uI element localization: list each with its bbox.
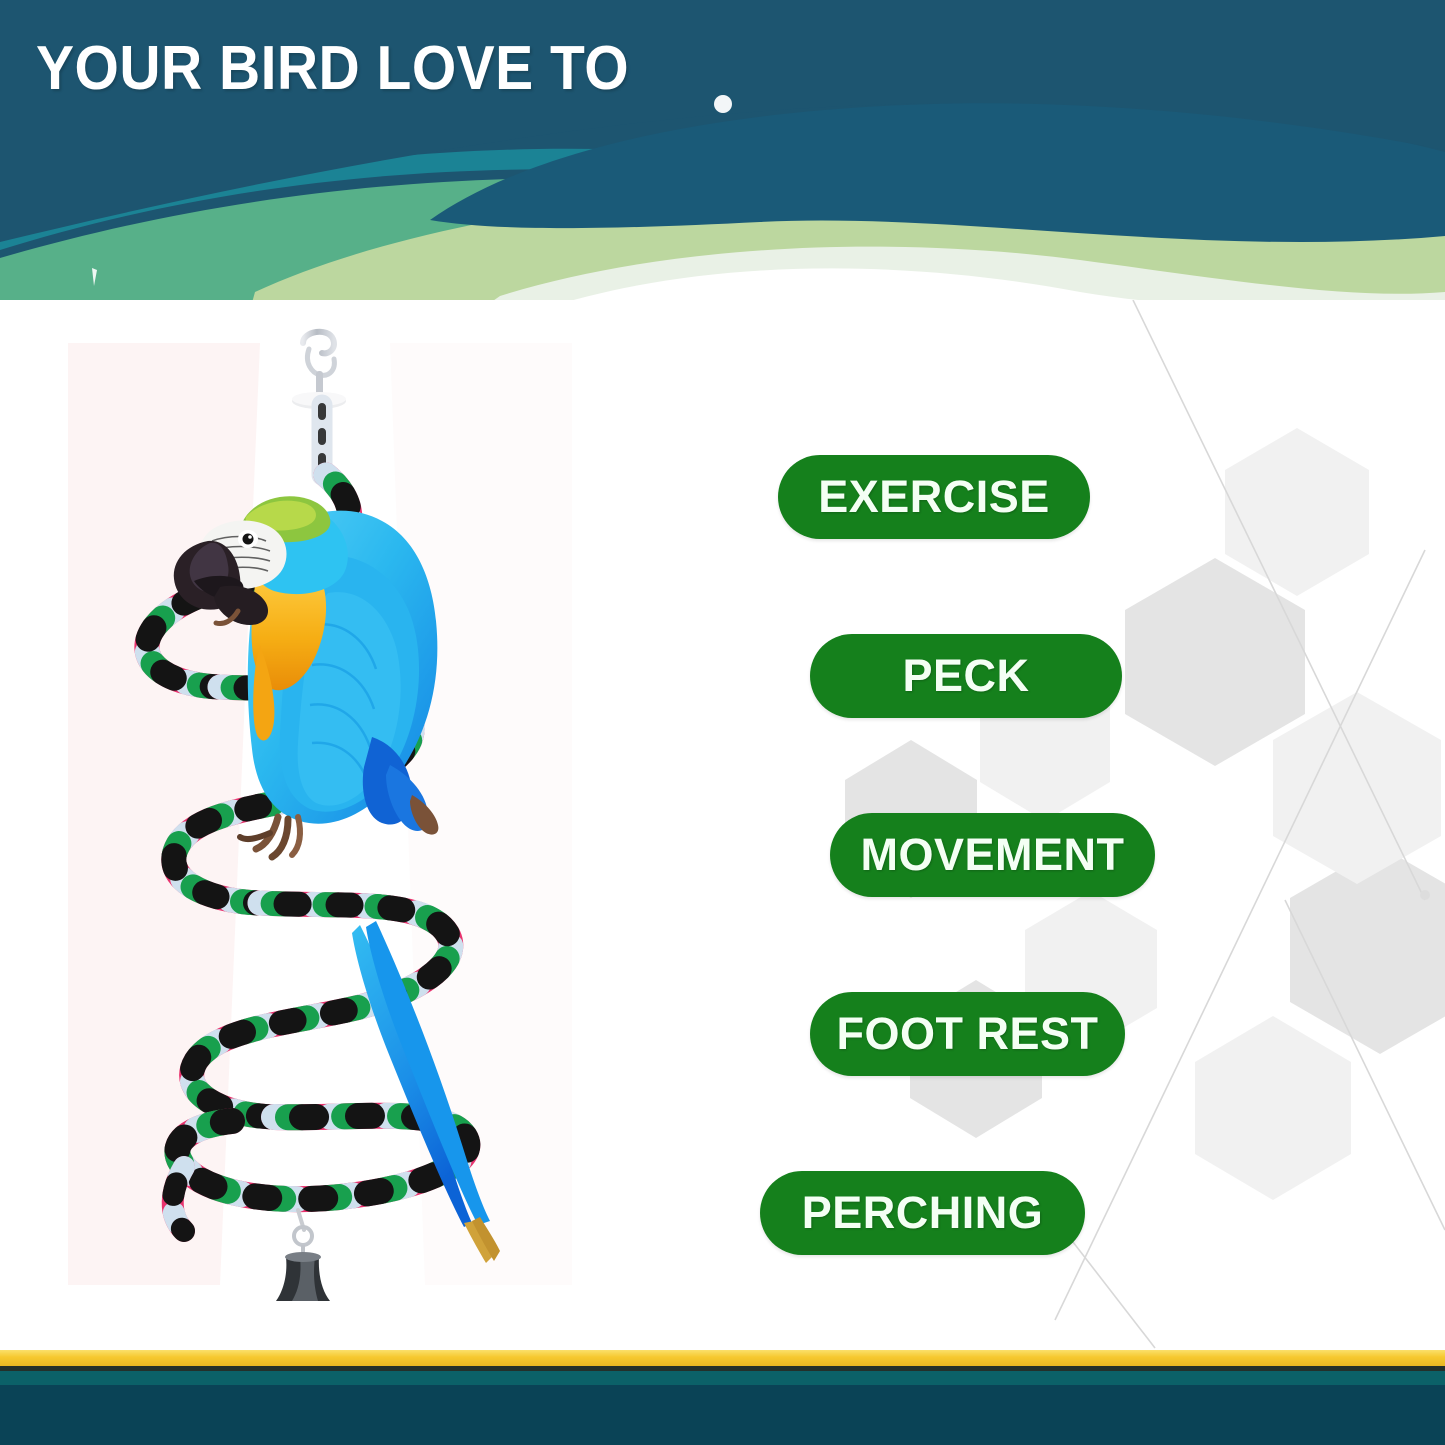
footer-teal-stripe: [0, 1371, 1445, 1385]
benefit-label: MOVEMENT: [860, 829, 1124, 881]
page-title: YOUR BIRD LOVE TO: [36, 33, 629, 104]
benefits-list: EXERCISE PECK MOVEMENT FOOT REST PERCHIN…: [740, 300, 1360, 1350]
header-band: YOUR BIRD LOVE TO: [0, 0, 1445, 310]
benefit-label: FOOT REST: [837, 1008, 1099, 1060]
benefit-pill-perching[interactable]: PERCHING: [760, 1171, 1085, 1255]
product-photo-graphic: [60, 325, 580, 1325]
product-photo: [60, 325, 580, 1325]
benefit-pill-peck[interactable]: PECK: [810, 634, 1122, 718]
footer-main-block: [0, 1385, 1445, 1445]
benefit-pill-exercise[interactable]: EXERCISE: [778, 455, 1090, 539]
footer-band: [0, 1350, 1445, 1445]
infographic-root: YOUR BIRD LOVE TO: [0, 0, 1445, 1445]
benefit-label: PERCHING: [802, 1187, 1044, 1239]
footer-gold-stripe: [0, 1350, 1445, 1366]
benefit-label: EXERCISE: [818, 471, 1050, 523]
benefit-pill-foot-rest[interactable]: FOOT REST: [810, 992, 1125, 1076]
body-area: EXERCISE PECK MOVEMENT FOOT REST PERCHIN…: [0, 300, 1445, 1350]
benefit-label: PECK: [902, 650, 1029, 702]
benefit-pill-movement[interactable]: MOVEMENT: [830, 813, 1155, 897]
